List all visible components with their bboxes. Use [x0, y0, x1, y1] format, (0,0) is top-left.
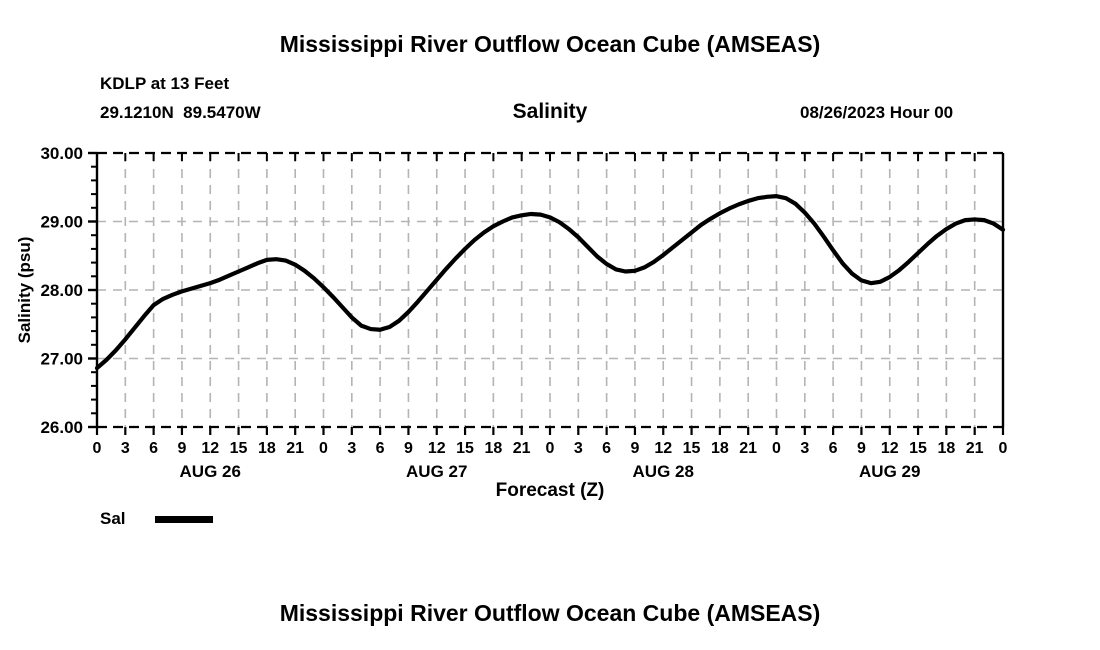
page-title-bottom: Mississippi River Outflow Ocean Cube (AM… — [0, 600, 1100, 627]
legend-swatch-sal — [155, 516, 213, 523]
x-day-label: AUG 29 — [859, 462, 920, 481]
x-hour-label: 6 — [602, 440, 611, 457]
x-hour-label: 12 — [881, 440, 899, 457]
tick-marks-layer — [88, 153, 1003, 435]
x-day-label: AUG 26 — [180, 462, 241, 481]
x-axis-title: Forecast (Z) — [0, 480, 1100, 502]
x-hour-label: 0 — [546, 440, 555, 457]
x-hour-label: 12 — [428, 440, 446, 457]
x-hour-label: 18 — [711, 440, 729, 457]
x-day-labels: AUG 26AUG 27AUG 28AUG 29 — [180, 462, 921, 481]
x-hour-label: 3 — [347, 440, 356, 457]
x-hour-label: 6 — [376, 440, 385, 457]
y-axis-title-text: Salinity (psu) — [15, 237, 34, 344]
salinity-line-chart: 26.0027.0028.0029.0030.00 03691215182103… — [0, 0, 1100, 650]
y-tick-label: 27.00 — [40, 350, 83, 369]
y-axis-title: Salinity (psu) — [15, 237, 34, 344]
x-hour-label: 6 — [829, 440, 838, 457]
grid-layer — [97, 153, 1003, 427]
y-tick-label: 30.00 — [40, 144, 83, 163]
x-hour-label: 0 — [999, 440, 1008, 457]
x-hour-label: 12 — [201, 440, 219, 457]
x-hour-label: 18 — [937, 440, 955, 457]
x-hour-label: 21 — [966, 440, 984, 457]
x-day-label: AUG 27 — [406, 462, 467, 481]
x-hour-label: 9 — [404, 440, 413, 457]
x-hour-label: 15 — [909, 440, 927, 457]
y-tick-label: 29.00 — [40, 213, 83, 232]
x-hour-label: 15 — [683, 440, 701, 457]
legend-label-sal: Sal — [100, 509, 126, 529]
y-tick-labels: 26.0027.0028.0029.0030.00 — [40, 144, 83, 437]
x-hour-label: 18 — [258, 440, 276, 457]
x-hour-label: 15 — [456, 440, 474, 457]
x-day-label: AUG 28 — [633, 462, 694, 481]
x-tick-labels: 0369121518210369121518210369121518210369… — [93, 440, 1008, 457]
x-hour-label: 21 — [739, 440, 757, 457]
x-hour-label: 9 — [630, 440, 639, 457]
x-hour-label: 3 — [800, 440, 809, 457]
x-hour-label: 0 — [319, 440, 328, 457]
chart-page: Mississippi River Outflow Ocean Cube (AM… — [0, 0, 1100, 650]
x-hour-label: 9 — [857, 440, 866, 457]
x-hour-label: 9 — [177, 440, 186, 457]
x-hour-label: 15 — [230, 440, 248, 457]
x-hour-label: 12 — [654, 440, 672, 457]
x-hour-label: 0 — [772, 440, 781, 457]
x-hour-label: 6 — [149, 440, 158, 457]
y-tick-label: 26.00 — [40, 418, 83, 437]
x-hour-label: 21 — [286, 440, 304, 457]
x-hour-label: 21 — [513, 440, 531, 457]
x-hour-label: 3 — [121, 440, 130, 457]
x-hour-label: 3 — [574, 440, 583, 457]
x-hour-label: 0 — [93, 440, 102, 457]
x-hour-label: 18 — [484, 440, 502, 457]
y-tick-label: 28.00 — [40, 281, 83, 300]
